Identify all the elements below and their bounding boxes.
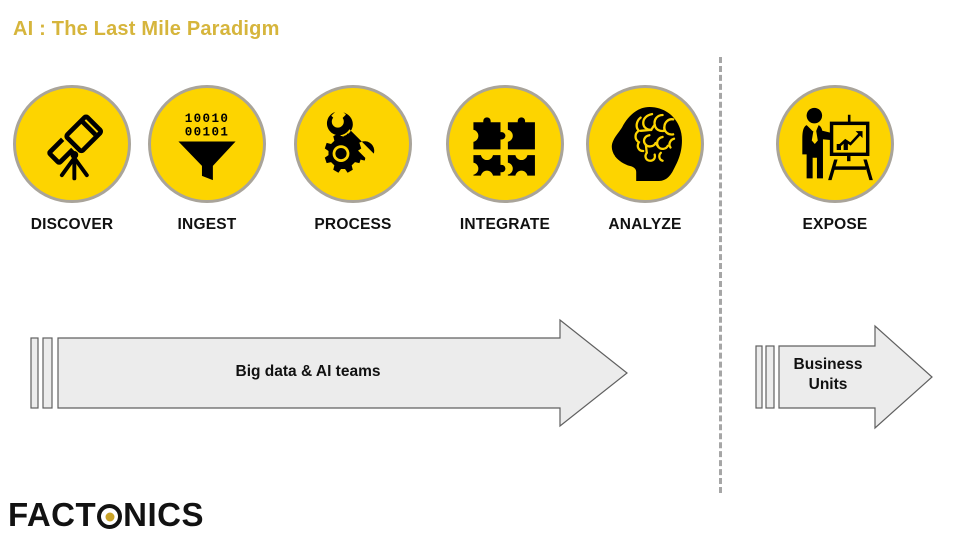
business-units-arrow[interactable]: Business Units [755,318,935,428]
gear-wrench-icon-disc [294,85,412,203]
slide-canvas: AI : The Last Mile Paradigm [0,0,960,540]
arrow-body [58,320,627,426]
telescope-icon-disc [13,85,131,203]
logo-o-dot-icon [97,504,122,529]
pipeline-stage-label: DISCOVER [0,216,147,234]
section-divider [719,57,722,493]
pipeline-stage-label: EXPOSE [760,216,910,234]
logo-wordmark: FACT NICS [8,496,204,534]
big-data-arrow-shape [30,318,630,428]
presenter-board-icon [792,101,878,187]
pipeline-stage-discover[interactable]: DISCOVER [0,85,147,234]
pipeline-stage-analyze[interactable]: ANALYZE [570,85,720,234]
arrow-tail-stripe [43,338,52,408]
business-units-arrow-shape [755,318,935,428]
arrow-body [779,326,932,428]
logo-text-part-2: NICS [123,496,204,534]
telescope-icon [33,105,111,183]
page-title: AI : The Last Mile Paradigm [13,18,280,41]
pipeline-stage-integrate[interactable]: INTEGRATE [430,85,580,234]
gear-wrench-icon [313,104,393,184]
arrow-tail-stripe [31,338,38,408]
presenter-board-icon-disc [776,85,894,203]
pipeline-stage-ingest[interactable]: 10010 00101 INGEST [132,85,282,234]
pipeline-stage-label: PROCESS [278,216,428,234]
big-data-arrow[interactable]: Big data & AI teams [30,318,630,428]
arrow-tail-stripe [766,346,774,408]
pipeline-stage-label: ANALYZE [570,216,720,234]
brain-head-icon-disc [586,85,704,203]
puzzle-pieces-icon [464,103,546,185]
pipeline-stage-label: INTEGRATE [430,216,580,234]
funnel-binary-icon-disc: 10010 00101 [148,85,266,203]
pipeline-stage-label: INGEST [132,216,282,234]
pipeline-stage-process[interactable]: PROCESS [278,85,428,234]
arrow-tail-stripe [756,346,762,408]
brain-head-icon [601,100,689,188]
logo-text-part-1: FACT [8,496,96,534]
funnel-binary-icon: 10010 00101 [165,102,249,186]
factonics-logo: FACT NICS [8,497,204,533]
binary-row-top: 10010 [185,112,230,126]
pipeline-stage-expose[interactable]: EXPOSE [760,85,910,234]
binary-row-bottom: 00101 [185,126,230,140]
puzzle-pieces-icon-disc [446,85,564,203]
